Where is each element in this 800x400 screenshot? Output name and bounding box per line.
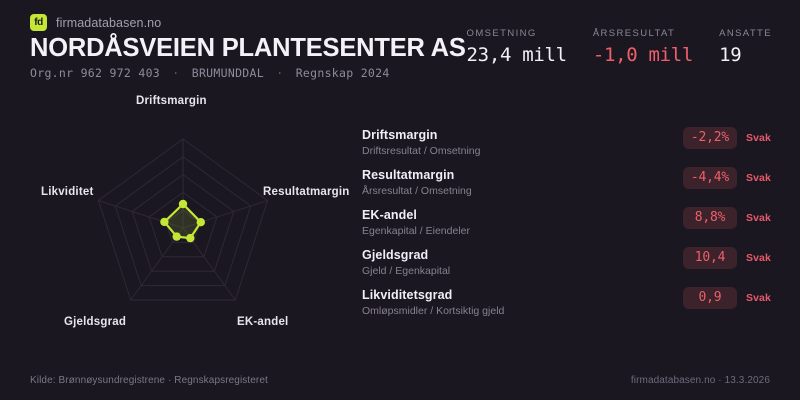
kpi-omsetning: OMSETNING 23,4 mill [467,28,567,66]
company-location: BRUMUNDDAL [192,66,264,80]
radar-chart: Driftsmargin Resultatmargin EK-andel Gje… [0,88,350,343]
metric-row-gjeldsgrad[interactable]: Gjeldsgrad Gjeld / Egenkapital 10,4 Svak [362,248,782,288]
radar-point-gjeldsgrad [173,232,181,240]
kpi-arsresultat: ÅRSRESULTAT -1,0 mill [593,28,693,66]
brand[interactable]: fd firmadatabasen.no [30,14,161,31]
page-title: NORDÅSVEIEN PLANTESENTER AS [30,34,466,63]
radar-point-resultatmargin [197,218,205,226]
metric-formula: Gjeld / Egenkapital [362,265,662,278]
metric-formula: Driftsresultat / Omsetning [362,145,662,158]
kpi-label: ANSATTE [719,28,772,39]
firmadatabasen-logo-icon: fd [30,14,47,31]
kpi-value: -1,0 mill [593,44,693,66]
metric-name: Gjeldsgrad [362,248,662,263]
footer-source: Kilde: Brønnøysundregistrene · Regnskaps… [30,375,268,386]
metric-right: 8,8% Svak [683,207,782,229]
brand-name: firmadatabasen.no [56,16,161,30]
radar-axis-label-driftsmargin: Driftsmargin [136,95,207,107]
metric-row-likviditetsgrad[interactable]: Likviditetsgrad Omløpsmidler / Kortsikti… [362,288,782,328]
metric-right: -2,2% Svak [683,127,782,149]
company-meta: Org.nr 962 972 403 · BRUMUNDDAL · Regnsk… [30,66,390,80]
radar-point-driftsmargin [179,200,187,208]
kpi-label: ÅRSRESULTAT [593,28,693,39]
kpi-value: 23,4 mill [467,44,567,66]
metric-value-badge: 10,4 [683,247,737,269]
kpi-ansatte: ANSATTE 19 [719,28,772,66]
metric-formula: Årsresultat / Omsetning [362,185,662,198]
metric-value-badge: 8,8% [683,207,737,229]
accounting-year: Regnskap 2024 [296,66,390,80]
metric-name: EK-andel [362,208,662,223]
radar-axis-label-ek-andel: EK-andel [237,316,288,328]
metric-row-resultatmargin[interactable]: Resultatmargin Årsresultat / Omsetning -… [362,168,782,208]
metric-formula: Omløpsmidler / Kortsiktig gjeld [362,305,662,318]
metric-value-badge: -2,2% [683,127,737,149]
report-card: fd firmadatabasen.no NORDÅSVEIEN PLANTES… [0,0,800,400]
kpi-group: OMSETNING 23,4 mill ÅRSRESULTAT -1,0 mil… [467,28,772,66]
metric-text: Likviditetsgrad Omløpsmidler / Kortsikti… [362,288,662,318]
meta-separator-2: · [271,66,288,80]
metric-text: Driftsmargin Driftsresultat / Omsetning [362,128,662,158]
radar-point-likviditet [160,218,168,226]
status-badge: Svak [746,292,782,304]
radar-axis-label-gjeldsgrad: Gjeldsgrad [64,316,126,328]
meta-separator-1: · [167,66,184,80]
status-badge: Svak [746,212,782,224]
radar-chart-svg [0,88,350,343]
metric-text: Gjeldsgrad Gjeld / Egenkapital [362,248,662,278]
metric-name: Driftsmargin [362,128,662,143]
kpi-value: 19 [719,44,772,66]
status-badge: Svak [746,132,782,144]
metric-right: 10,4 Svak [683,247,782,269]
header: fd firmadatabasen.no NORDÅSVEIEN PLANTES… [0,0,800,88]
metrics-list: Driftsmargin Driftsresultat / Omsetning … [362,128,782,328]
footer-site-date: firmadatabasen.no · 13.3.2026 [631,375,770,386]
kpi-label: OMSETNING [467,28,567,39]
metric-name: Resultatmargin [362,168,662,183]
metric-right: -4,4% Svak [683,167,782,189]
metric-text: Resultatmargin Årsresultat / Omsetning [362,168,662,198]
org-number: Org.nr 962 972 403 [30,66,160,80]
metric-right: 0,9 Svak [683,287,782,309]
radar-axis-label-resultatmargin: Resultatmargin [263,186,350,198]
metric-value-badge: -4,4% [683,167,737,189]
metric-formula: Egenkapital / Eiendeler [362,225,662,238]
radar-point-ek-andel [186,234,194,242]
metric-text: EK-andel Egenkapital / Eiendeler [362,208,662,238]
metric-value-badge: 0,9 [683,287,737,309]
metric-name: Likviditetsgrad [362,288,662,303]
radar-axis-label-likviditet: Likviditet [41,186,93,198]
metric-row-ek-andel[interactable]: EK-andel Egenkapital / Eiendeler 8,8% Sv… [362,208,782,248]
status-badge: Svak [746,252,782,264]
metric-row-driftsmargin[interactable]: Driftsmargin Driftsresultat / Omsetning … [362,128,782,168]
status-badge: Svak [746,172,782,184]
